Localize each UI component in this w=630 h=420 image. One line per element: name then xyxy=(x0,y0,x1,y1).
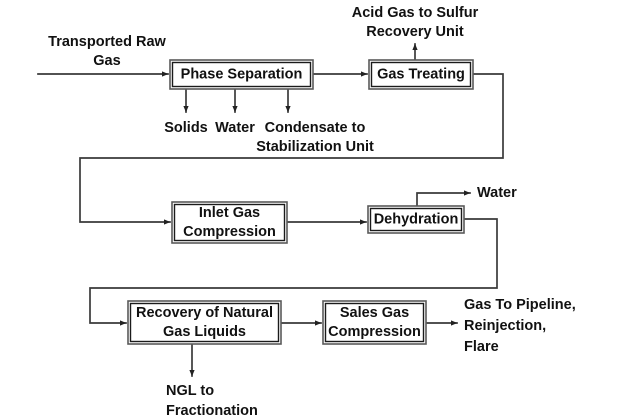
box-label-sales-gas-compression: Sales Gas xyxy=(340,305,409,321)
stream-label-text-transported-raw-gas: Gas xyxy=(93,53,120,69)
stream-label-text-water-separator: Water xyxy=(215,120,255,136)
stream-label-text-ngl-to-fractionation: NGL to xyxy=(166,383,214,399)
process-box-phase-separation[interactable]: Phase Separation xyxy=(170,60,313,89)
box-label-dehydration: Dehydration xyxy=(374,211,459,227)
stream-label-condensate-to-stabilization-unit: Condensate toStabilization Unit xyxy=(256,120,374,155)
stream-label-text-gas-to-pipeline-reinjection-flare: Gas To Pipeline, xyxy=(464,297,576,313)
stream-label-text-ngl-to-fractionation: Fractionation xyxy=(166,403,258,419)
stream-label-text-transported-raw-gas: Transported Raw xyxy=(48,34,166,50)
stream-label-water-dehydration: Water xyxy=(477,185,517,201)
box-label-inlet-gas-compression: Compression xyxy=(183,224,276,240)
process-box-inlet-gas-compression[interactable]: Inlet GasCompression xyxy=(172,202,287,243)
stream-label-water-separator: Water xyxy=(215,120,255,136)
stream-label-text-acid-gas-to-sulfur-recovery-unit: Acid Gas to Sulfur xyxy=(352,5,479,21)
box-label-recovery-of-natural-gas-liquids: Recovery of Natural xyxy=(136,305,273,321)
process-flow-diagram: Phase SeparationGas TreatingInlet GasCom… xyxy=(0,0,630,420)
stream-label-acid-gas-to-sulfur-recovery-unit: Acid Gas to SulfurRecovery Unit xyxy=(352,5,479,40)
stream-label-gas-to-pipeline-reinjection-flare: Gas To Pipeline,Reinjection,Flare xyxy=(464,297,576,355)
process-box-gas-treating[interactable]: Gas Treating xyxy=(369,60,473,89)
stream-label-text-gas-to-pipeline-reinjection-flare: Flare xyxy=(464,339,499,355)
box-label-sales-gas-compression: Compression xyxy=(328,324,421,340)
box-label-phase-separation: Phase Separation xyxy=(181,66,303,82)
stream-label-text-water-dehydration: Water xyxy=(477,185,517,201)
process-boxes-layer: Phase SeparationGas TreatingInlet GasCom… xyxy=(128,60,473,344)
flow-diagram-canvas: Phase SeparationGas TreatingInlet GasCom… xyxy=(0,0,630,420)
process-box-sales-gas-compression[interactable]: Sales GasCompression xyxy=(323,301,426,344)
stream-label-text-gas-to-pipeline-reinjection-flare: Reinjection, xyxy=(464,318,546,334)
stream-label-text-acid-gas-to-sulfur-recovery-unit: Recovery Unit xyxy=(366,24,464,40)
stream-label-ngl-to-fractionation: NGL toFractionation xyxy=(166,383,258,419)
stream-label-text-condensate-to-stabilization-unit: Stabilization Unit xyxy=(256,139,374,155)
box-label-recovery-of-natural-gas-liquids: Gas Liquids xyxy=(163,324,246,340)
stream-label-text-solids: Solids xyxy=(164,120,208,136)
process-box-recovery-of-natural-gas-liquids[interactable]: Recovery of NaturalGas Liquids xyxy=(128,301,281,344)
box-label-gas-treating: Gas Treating xyxy=(377,66,465,82)
process-box-dehydration[interactable]: Dehydration xyxy=(368,206,464,233)
stream-label-solids: Solids xyxy=(164,120,208,136)
stream-label-transported-raw-gas: Transported RawGas xyxy=(48,34,166,69)
stream-label-text-condensate-to-stabilization-unit: Condensate to xyxy=(265,120,366,136)
connector-dehydration-to-water xyxy=(417,193,470,206)
box-label-inlet-gas-compression: Inlet Gas xyxy=(199,205,260,221)
